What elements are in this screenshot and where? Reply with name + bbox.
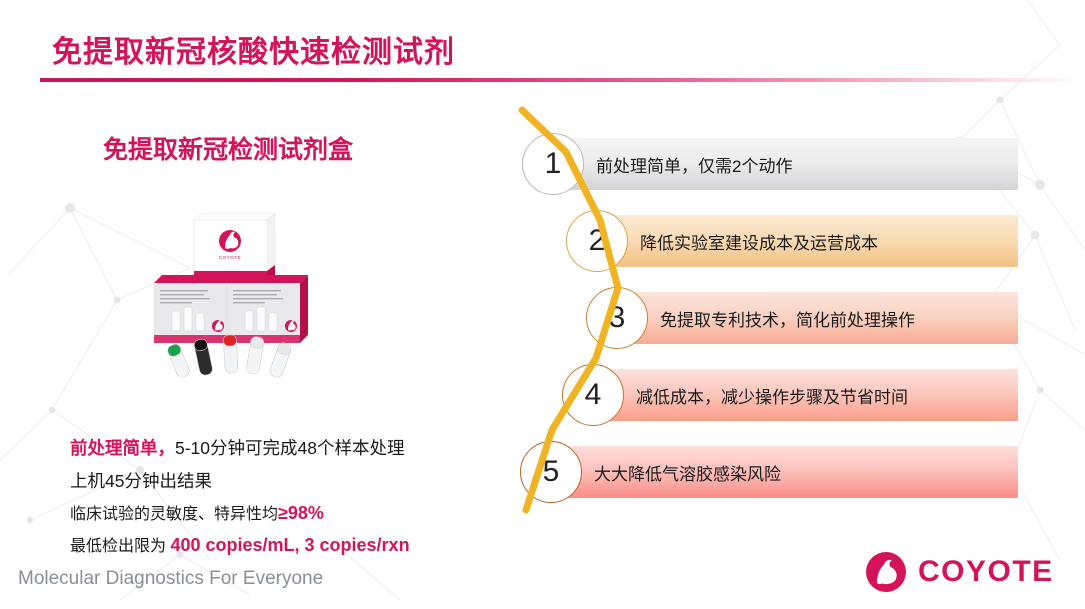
step-row-3: 3 免提取专利技术，简化前处理操作 <box>518 292 1018 344</box>
step-circle-4[interactable]: 4 <box>562 364 624 426</box>
step-number-3: 3 <box>609 301 626 335</box>
step-circle-1[interactable]: 1 <box>522 133 584 195</box>
step-circle-3[interactable]: 3 <box>586 287 648 349</box>
step-row-4: 4 减低成本，减少操作步骤及节省时间 <box>518 369 1018 421</box>
description-line-3: 临床试验的灵敏度、特异性均≥98% <box>70 498 410 530</box>
description-line-2: 上机45分钟出结果 <box>70 465 410 498</box>
kit-heading: 免提取新冠检测试剂盒 <box>103 130 353 166</box>
step-label-1: 前处理简单，仅需2个动作 <box>596 138 792 190</box>
step-number-2: 2 <box>589 224 606 258</box>
brand-logo: COYOTE <box>866 552 1054 592</box>
product-kit-image: COYOTE <box>132 203 342 388</box>
step-row-2: 2 降低实验室建设成本及运营成本 <box>518 215 1018 267</box>
description-line-1: 前处理简单，5-10分钟可完成48个样本处理 <box>70 432 410 465</box>
left-description-block: 前处理简单，5-10分钟可完成48个样本处理 上机45分钟出结果 临床试验的灵敏… <box>70 432 410 562</box>
brand-name: COYOTE <box>918 555 1054 589</box>
step-number-1: 1 <box>545 147 562 181</box>
step-row-1: 1 前处理简单，仅需2个动作 <box>518 138 1018 190</box>
description-line-4: 最低检出限为 400 copies/mL, 3 copies/rxn <box>70 530 410 562</box>
coyote-howling-wolf-logo-icon <box>866 552 906 592</box>
page-title: 免提取新冠核酸快速检测试剂 <box>52 27 455 71</box>
step-number-5: 5 <box>543 455 560 489</box>
company-tagline: Molecular Diagnostics For Everyone <box>18 568 323 590</box>
step-label-4: 减低成本，减少操作步骤及节省时间 <box>636 369 908 421</box>
step-number-4: 4 <box>585 378 602 412</box>
svg-text:COYOTE: COYOTE <box>219 255 241 260</box>
step-label-2: 降低实验室建设成本及运营成本 <box>640 215 878 267</box>
step-label-3: 免提取专利技术，简化前处理操作 <box>660 292 915 344</box>
step-circle-5[interactable]: 5 <box>520 441 582 503</box>
step-circle-2[interactable]: 2 <box>566 210 628 272</box>
process-steps-list: 1 前处理简单，仅需2个动作 2 降低实验室建设成本及运营成本 3 免提取专利技… <box>518 110 1018 510</box>
step-label-5: 大大降低气溶胶感染风险 <box>594 446 781 498</box>
title-divider <box>40 78 1085 82</box>
step-row-5: 5 大大降低气溶胶感染风险 <box>518 446 1018 498</box>
